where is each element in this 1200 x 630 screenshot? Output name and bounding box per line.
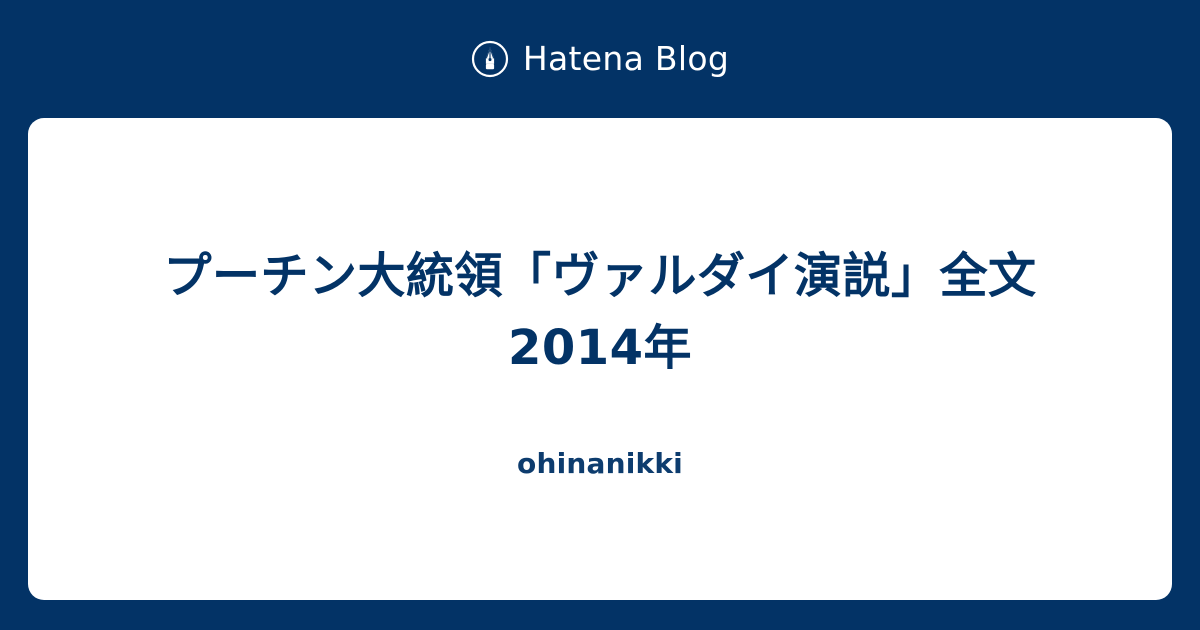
blog-name: ohinanikki xyxy=(517,450,683,478)
og-image-card: Hatena Blog プーチン大統領「ヴァルダイ演説」全文 2014年 ohi… xyxy=(0,0,1200,630)
entry-title: プーチン大統領「ヴァルダイ演説」全文 2014年 xyxy=(100,240,1100,384)
hatena-blog-brand-header: Hatena Blog xyxy=(0,0,1200,118)
hatena-pen-nib-icon xyxy=(471,40,509,78)
entry-card: プーチン大統領「ヴァルダイ演説」全文 2014年 ohinanikki xyxy=(28,118,1172,600)
hatena-blog-wordmark: Hatena Blog xyxy=(523,42,729,75)
